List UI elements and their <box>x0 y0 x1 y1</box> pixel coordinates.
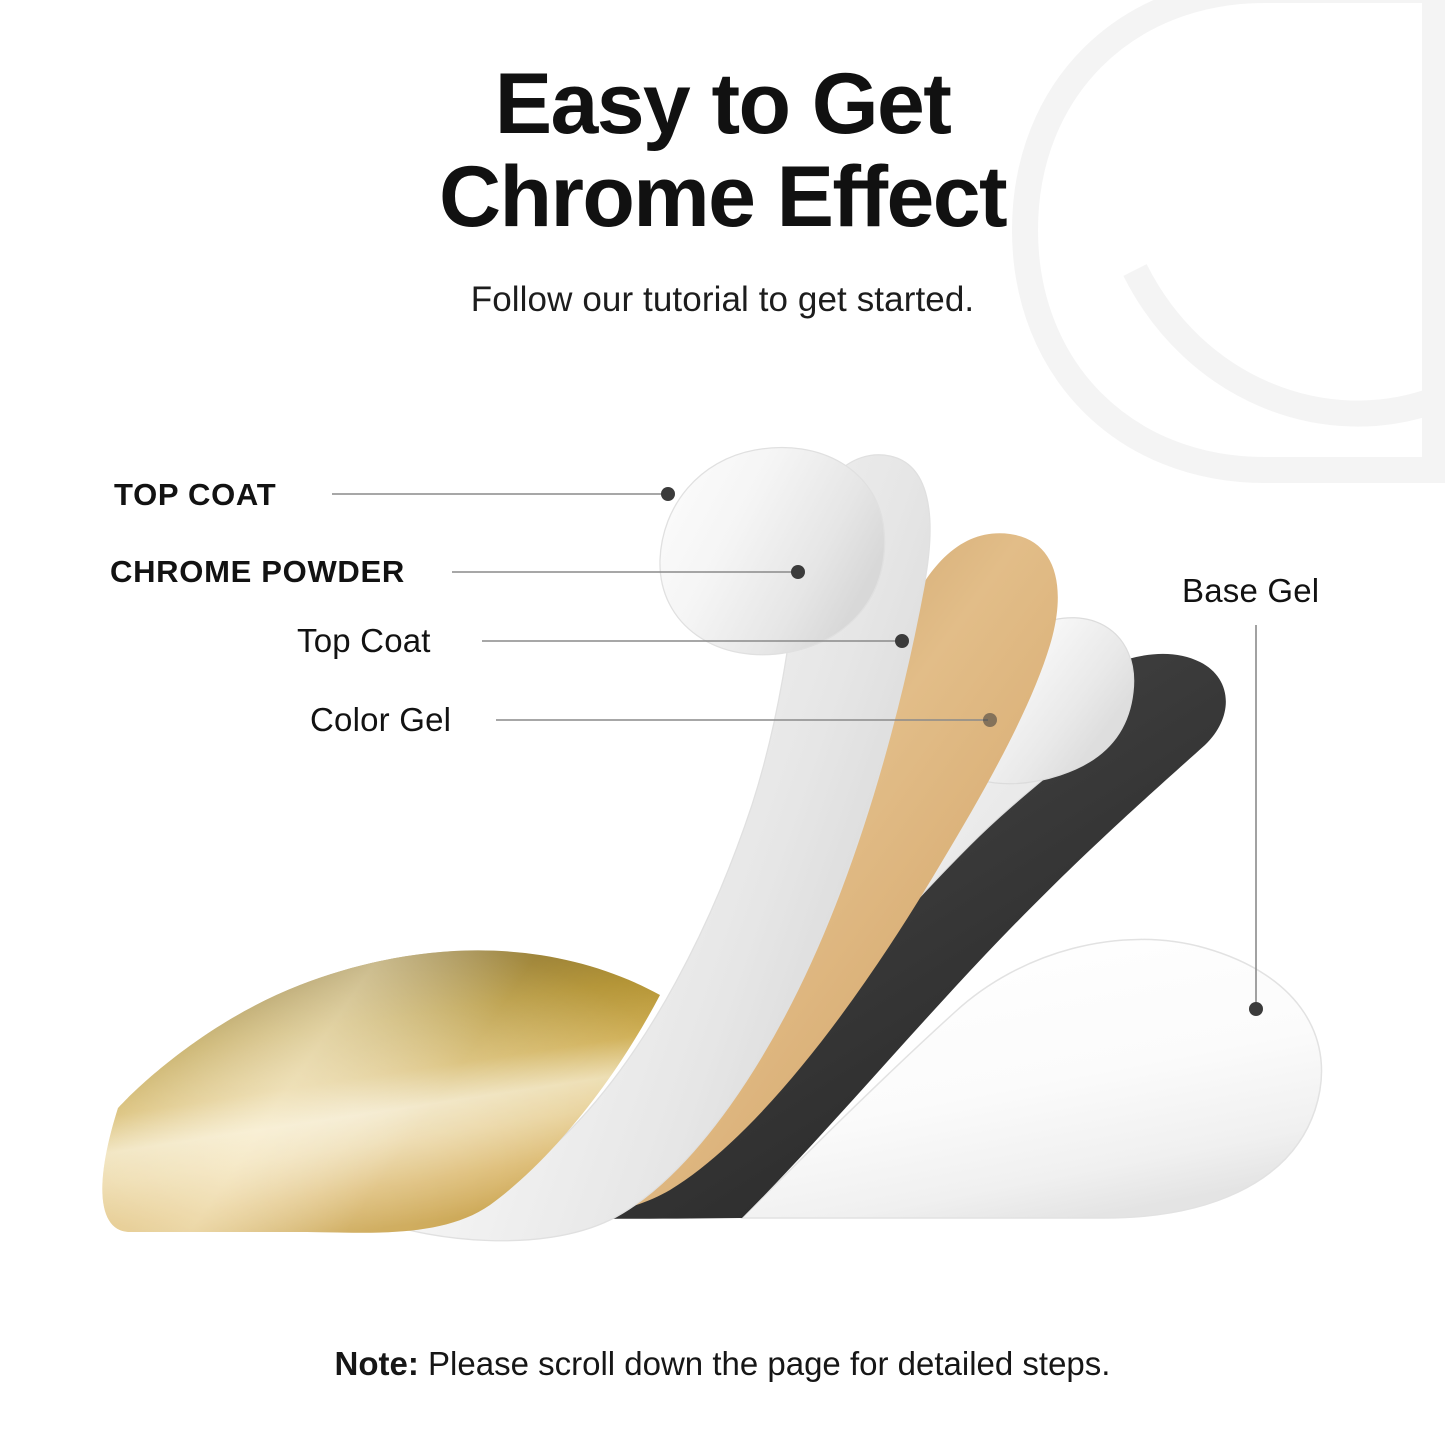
label-top-coat-final: TOP COAT <box>114 477 276 513</box>
leader-dot-top-coat <box>895 634 909 648</box>
label-base-gel: Base Gel <box>1182 572 1319 610</box>
label-top-coat: Top Coat <box>297 622 431 660</box>
leader-dot-top-coat-caps <box>661 487 675 501</box>
label-chrome-powder: CHROME POWDER <box>110 554 405 590</box>
nail-layers-illustration <box>0 0 1445 1445</box>
infographic-page: Easy to Get Chrome Effect Follow our tut… <box>0 0 1445 1445</box>
footer-note-text: Please scroll down the page for detailed… <box>419 1345 1111 1382</box>
footer-note: Note: Please scroll down the page for de… <box>0 1345 1445 1383</box>
footer-note-prefix: Note: <box>335 1345 419 1382</box>
label-color-gel: Color Gel <box>310 701 451 739</box>
leader-dot-color-gel <box>983 713 997 727</box>
leader-dot-base-gel <box>1249 1002 1263 1016</box>
leader-dot-chrome-powder <box>791 565 805 579</box>
